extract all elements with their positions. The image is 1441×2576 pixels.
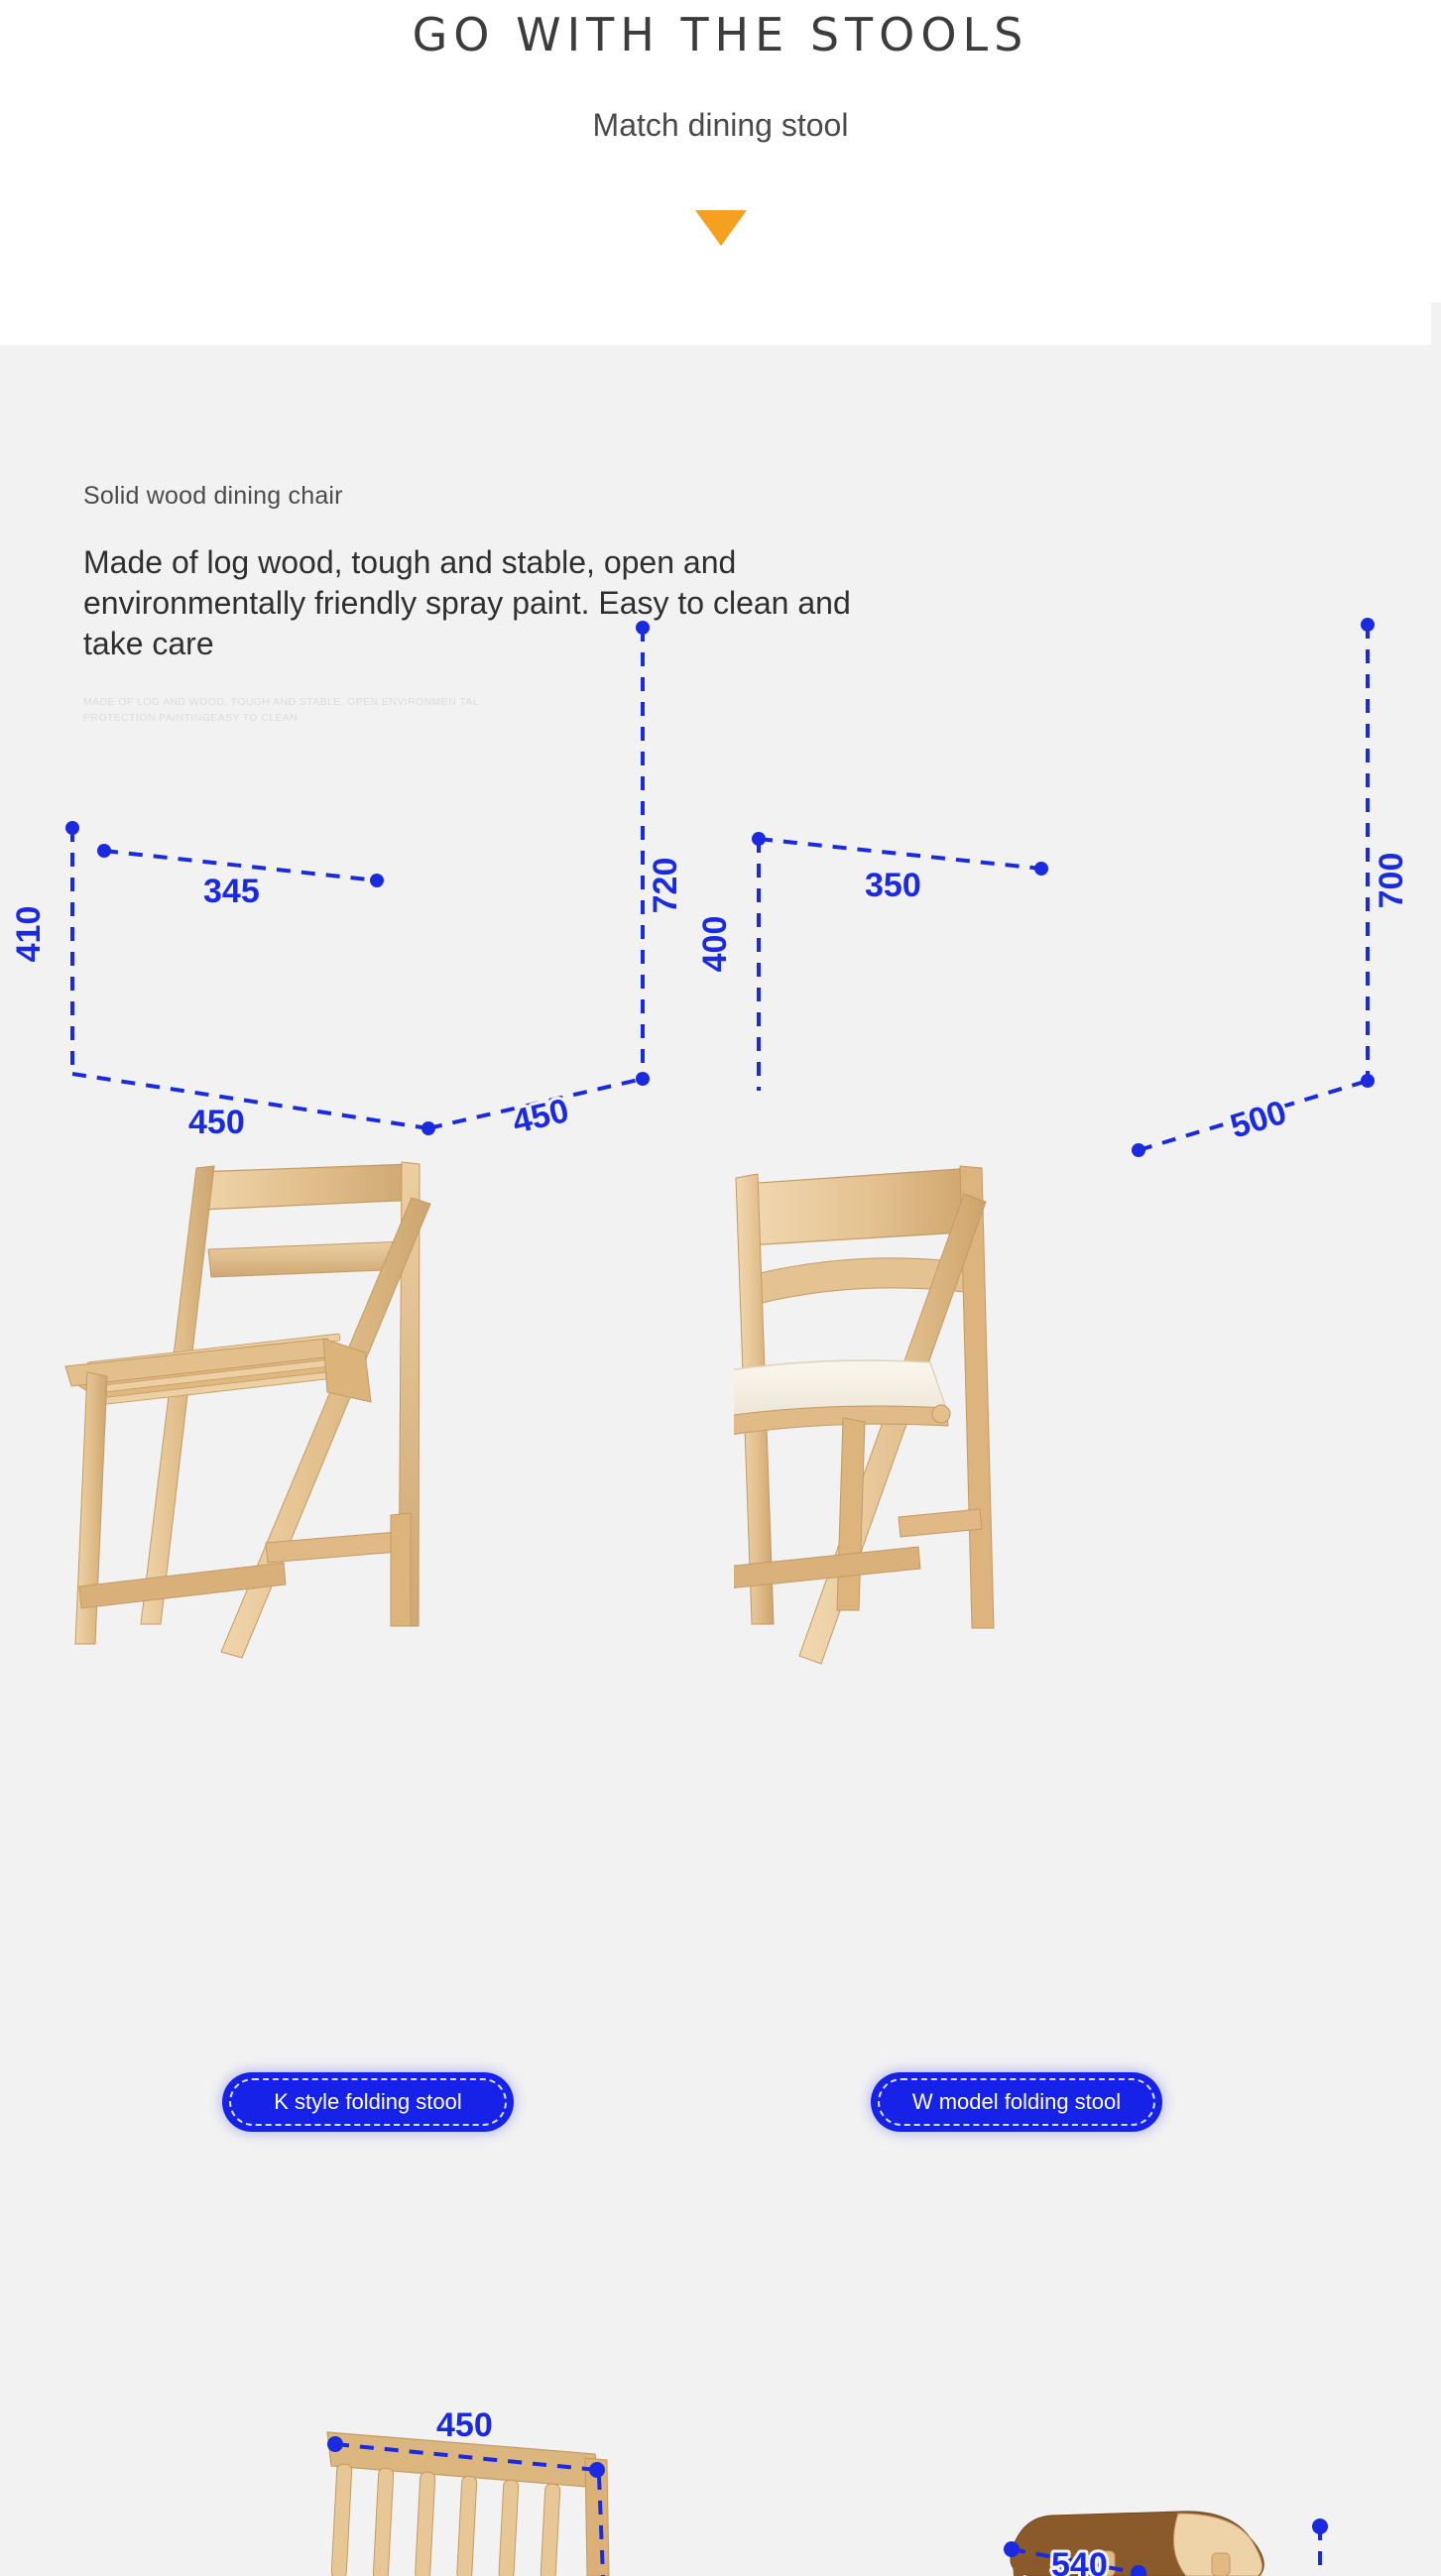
dimension-410: 410 — [10, 906, 48, 963]
bottom-preview-illustrations: .dl2 { stroke:#1a2ae0; stroke-width:4; s… — [0, 2402, 1441, 2576]
dimension-overlay: .dl { stroke:#1a2ae0; stroke-width:4; st… — [0, 345, 1441, 2231]
page-title: GO WITH THE STOOLS — [0, 8, 1441, 61]
dimension-350: 350 — [865, 867, 921, 904]
spindle-chair-illustration — [327, 2432, 609, 2576]
button-w-model-folding-stool[interactable]: W model folding stool — [871, 2072, 1162, 2132]
dimension-450-bottom: 450 — [436, 2406, 493, 2444]
dimension-400: 400 — [696, 916, 734, 973]
product-detail-section: Solid wood dining chair Made of log wood… — [0, 345, 1441, 2231]
dimension-540-bottom: 540 — [1051, 2546, 1108, 2576]
bottom-preview-row: .dl2 { stroke:#1a2ae0; stroke-width:4; s… — [0, 2402, 1441, 2576]
dimension-450-side: 450 — [509, 1092, 572, 1141]
dimension-500: 500 — [1226, 1094, 1290, 1146]
dimension-345: 345 — [203, 873, 260, 910]
dimension-720: 720 — [647, 858, 684, 914]
button-k-style-folding-stool[interactable]: K style folding stool — [222, 2072, 514, 2132]
triangle-down-icon — [695, 210, 747, 246]
dimension-700: 700 — [1373, 853, 1410, 909]
page-subtitle: Match dining stool — [0, 107, 1441, 144]
button-k-style-label: K style folding stool — [274, 2089, 462, 2115]
button-w-model-label: W model folding stool — [912, 2089, 1121, 2115]
dimension-450-front: 450 — [188, 1104, 245, 1141]
header-corner-notch — [1431, 302, 1441, 346]
header-section: GO WITH THE STOOLS Match dining stool — [0, 0, 1441, 345]
